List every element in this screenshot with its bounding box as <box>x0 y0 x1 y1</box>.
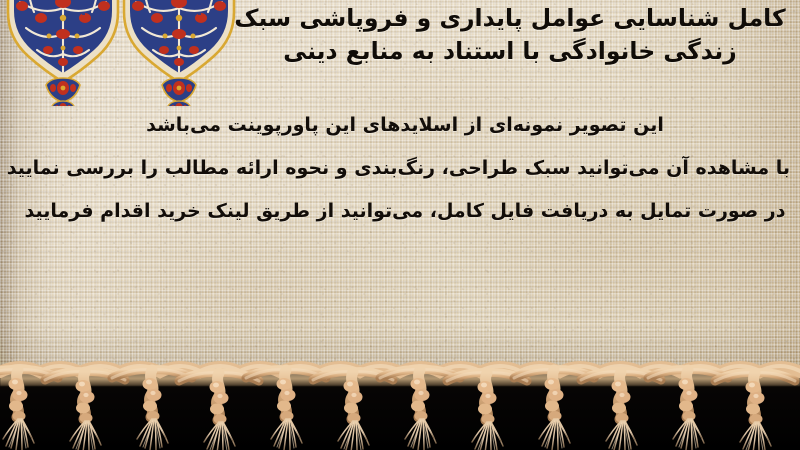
slide-title-line-2: خانوادگی با استناد به منابع دینی <box>283 37 655 65</box>
carpet-knotted-fringe <box>0 356 800 450</box>
body-line-3: در صورت تمایل به دریافت فایل کامل، می‌تو… <box>20 190 790 233</box>
carpet-medallion-ornament-right <box>120 0 238 106</box>
slide-title: کامل شناسایی عوامل پایداری و فروپاشی سبک… <box>230 2 790 68</box>
body-line-1: این تصویر نمونه‌ای از اسلایدهای این پاور… <box>20 104 790 147</box>
slide-body-text: این تصویر نمونه‌ای از اسلایدهای این پاور… <box>20 104 790 233</box>
body-line-2: با مشاهده آن می‌توانید سبک طراحی، رنگ‌بن… <box>20 147 790 190</box>
carpet-medallion-ornament-left <box>4 0 122 106</box>
presentation-slide: کامل شناسایی عوامل پایداری و فروپاشی سبک… <box>0 0 800 450</box>
